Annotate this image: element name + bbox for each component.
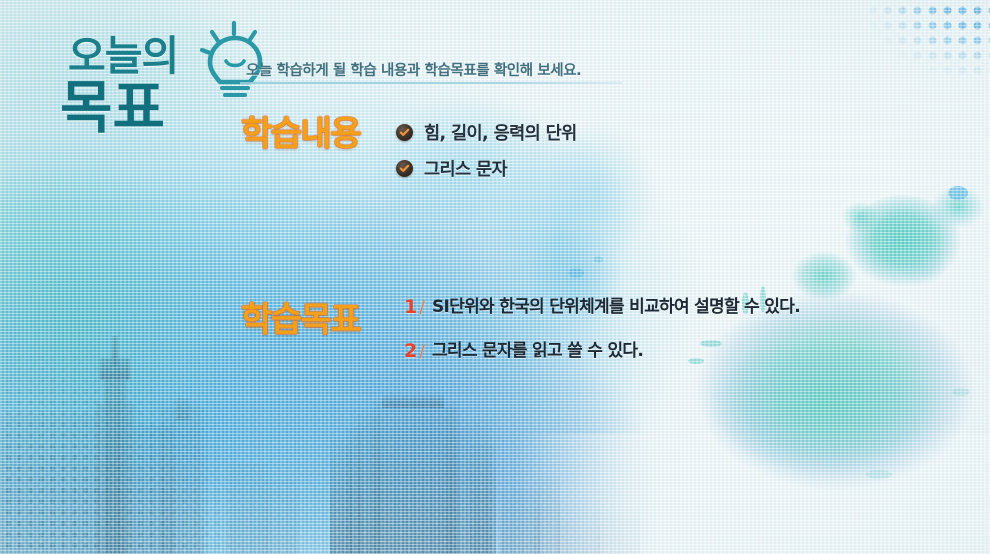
goal-number: 1/ bbox=[404, 296, 425, 319]
watercolor-dot-blue bbox=[948, 186, 968, 200]
watercolor-splat-top bbox=[845, 195, 965, 290]
header-divider-line bbox=[240, 82, 622, 84]
list-item: 1/ SI단위와 한국의 단위체계를 비교하여 설명할 수 있다. bbox=[404, 296, 800, 319]
check-circle-icon bbox=[396, 124, 413, 141]
goal-number-separator: / bbox=[419, 341, 425, 363]
list-item: 2/ 그리스 문자를 읽고 쓸 수 있다. bbox=[404, 340, 800, 363]
goal-number-value: 2 bbox=[404, 340, 417, 362]
watercolor-drip bbox=[952, 388, 970, 396]
section-heading-goal: 학습목표 bbox=[241, 292, 360, 341]
list-item-label: 그리스 문자 bbox=[424, 156, 507, 181]
slide-canvas: 오늘의 목표 오늘 학습하게 될 학습 내용과 학습목표를 확인해 보세요. 학… bbox=[0, 0, 990, 554]
logo-line-2: 목표 bbox=[60, 62, 165, 144]
watercolor-splat-small-a bbox=[840, 200, 880, 234]
watercolor-splat-top-right bbox=[930, 185, 986, 229]
goal-text: 그리스 문자를 읽고 쓸 수 있다. bbox=[432, 340, 643, 362]
watercolor-drip bbox=[866, 470, 892, 479]
list-item: 힘, 길이, 응력의 단위 bbox=[396, 118, 577, 147]
watercolor-dot-center bbox=[568, 268, 584, 278]
goal-number: 2/ bbox=[404, 340, 425, 363]
watercolor-splat-small-b bbox=[900, 240, 948, 290]
check-circle-icon bbox=[396, 160, 413, 177]
logo-today-goal: 오늘의 목표 bbox=[58, 14, 258, 134]
content-list: 힘, 길이, 응력의 단위 그리스 문자 bbox=[396, 118, 577, 190]
goal-list: 1/ SI단위와 한국의 단위체계를 비교하여 설명할 수 있다. 2/ 그리스… bbox=[404, 296, 800, 384]
watercolor-dot-center-small bbox=[594, 256, 603, 263]
section-heading-content: 학습내용 bbox=[241, 106, 360, 155]
header-subtitle: 오늘 학습하게 될 학습 내용과 학습목표를 확인해 보세요. bbox=[246, 59, 581, 80]
goal-number-separator: / bbox=[419, 297, 425, 319]
goal-text: SI단위와 한국의 단위체계를 비교하여 설명할 수 있다. bbox=[432, 296, 800, 318]
watercolor-splat-mid bbox=[790, 250, 858, 302]
list-item: 그리스 문자 bbox=[396, 154, 577, 183]
goal-number-value: 1 bbox=[404, 296, 417, 318]
bottom-fade-overlay bbox=[0, 434, 990, 554]
list-item-label: 힘, 길이, 응력의 단위 bbox=[424, 120, 577, 145]
halftone-dots-top-right bbox=[760, 0, 990, 108]
